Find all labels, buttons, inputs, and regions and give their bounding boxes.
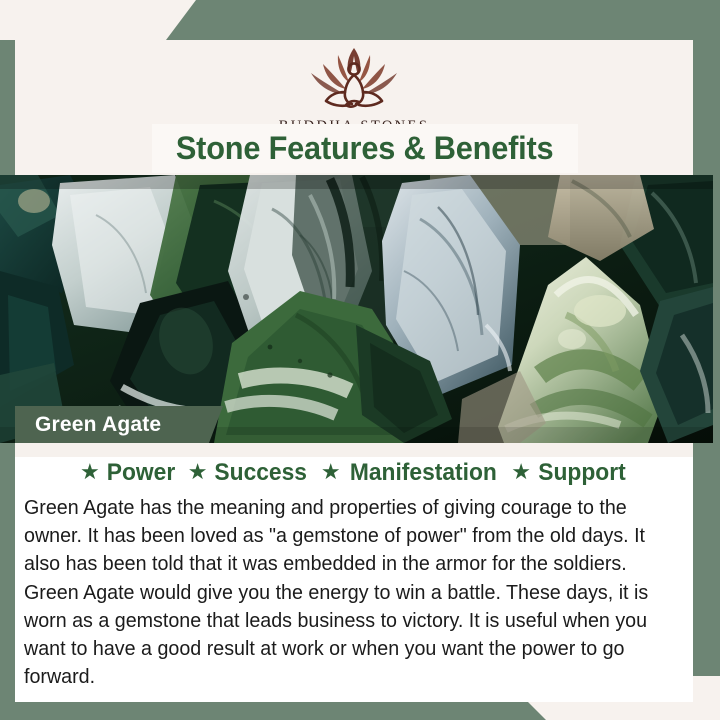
lotus-meditation-icon: [294, 42, 414, 116]
star-icon: ★: [321, 461, 341, 483]
benefit-item: ★ Power: [80, 459, 177, 487]
benefit-item: ★ Support: [511, 459, 628, 487]
benefit-label: Power: [107, 459, 175, 487]
benefit-item: ★ Manifestation: [321, 459, 500, 487]
star-icon: ★: [188, 461, 208, 483]
frame-bottom-bar: [0, 702, 720, 720]
brand-logo: BUDDHA STONES: [15, 40, 693, 135]
stone-features-poster: BUDDHA STONES Stone Features & Benefits: [0, 0, 720, 720]
panel-top-tint: [15, 443, 693, 457]
benefit-label: Manifestation: [349, 459, 496, 487]
frame-top-bar: [0, 0, 720, 40]
stone-photo-artwork: [0, 175, 713, 443]
stone-photo: [0, 175, 713, 443]
star-icon: ★: [511, 461, 531, 483]
page-title-banner: Stone Features & Benefits: [152, 124, 578, 173]
benefits-row: ★ Power ★ Success ★ Manifestation ★ Supp…: [15, 459, 693, 487]
content-panel: ★ Power ★ Success ★ Manifestation ★ Supp…: [15, 443, 693, 702]
page-title: Stone Features & Benefits: [176, 130, 554, 167]
star-icon: ★: [80, 461, 100, 483]
benefit-label: Success: [215, 459, 308, 487]
benefit-label: Support: [538, 459, 625, 487]
stone-name: Green Agate: [35, 413, 161, 437]
stone-description: Green Agate has the meaning and properti…: [24, 494, 665, 691]
stone-name-banner: Green Agate: [15, 406, 223, 443]
benefit-item: ★ Success: [188, 459, 310, 487]
